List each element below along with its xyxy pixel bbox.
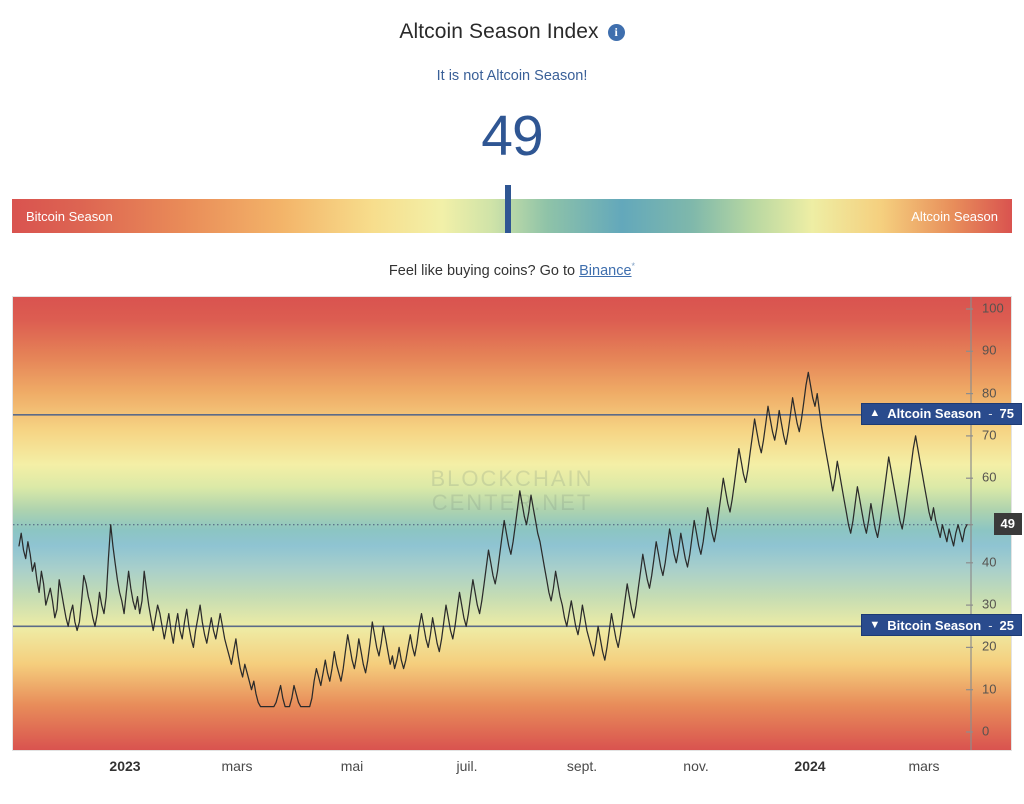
bitcoin-season-bar-label: Bitcoin Season — [26, 199, 113, 233]
x-tick-label: sept. — [567, 758, 597, 774]
index-marker — [505, 185, 511, 233]
x-tick-label: mars — [908, 758, 939, 774]
promo-line: Feel like buying coins? Go to Binance* — [0, 261, 1024, 279]
info-icon[interactable]: i — [608, 24, 625, 41]
index-value: 49 — [0, 108, 1024, 165]
page-title-row: Altcoin Season Index i — [0, 20, 1024, 44]
binance-link[interactable]: Binance — [579, 263, 631, 279]
altcoin-season-index-page: Altcoin Season Index i It is not Altcoin… — [0, 0, 1024, 804]
promo-prefix: Feel like buying coins? Go to — [389, 263, 579, 279]
season-status-text: It is not Altcoin Season! — [0, 68, 1024, 84]
x-tick-label: mars — [221, 758, 252, 774]
x-tick-label: juil. — [456, 758, 477, 774]
x-tick-label: 2024 — [794, 758, 825, 774]
chart-x-axis: 2023marsmaijuil.sept.nov.2024mars — [12, 758, 1012, 788]
altcoin-season-bar-label: Altcoin Season — [911, 199, 998, 233]
index-chart[interactable]: BLOCKCHAIN CENTER.NET — [12, 296, 1012, 751]
x-tick-label: nov. — [683, 758, 708, 774]
x-tick-label: 2023 — [109, 758, 140, 774]
chart-plot-svg — [13, 297, 1011, 750]
page-title: Altcoin Season Index — [399, 20, 598, 44]
promo-asterisk: * — [632, 261, 636, 271]
season-gradient-bar: Bitcoin Season Altcoin Season — [12, 199, 1012, 233]
x-tick-label: mai — [341, 758, 364, 774]
